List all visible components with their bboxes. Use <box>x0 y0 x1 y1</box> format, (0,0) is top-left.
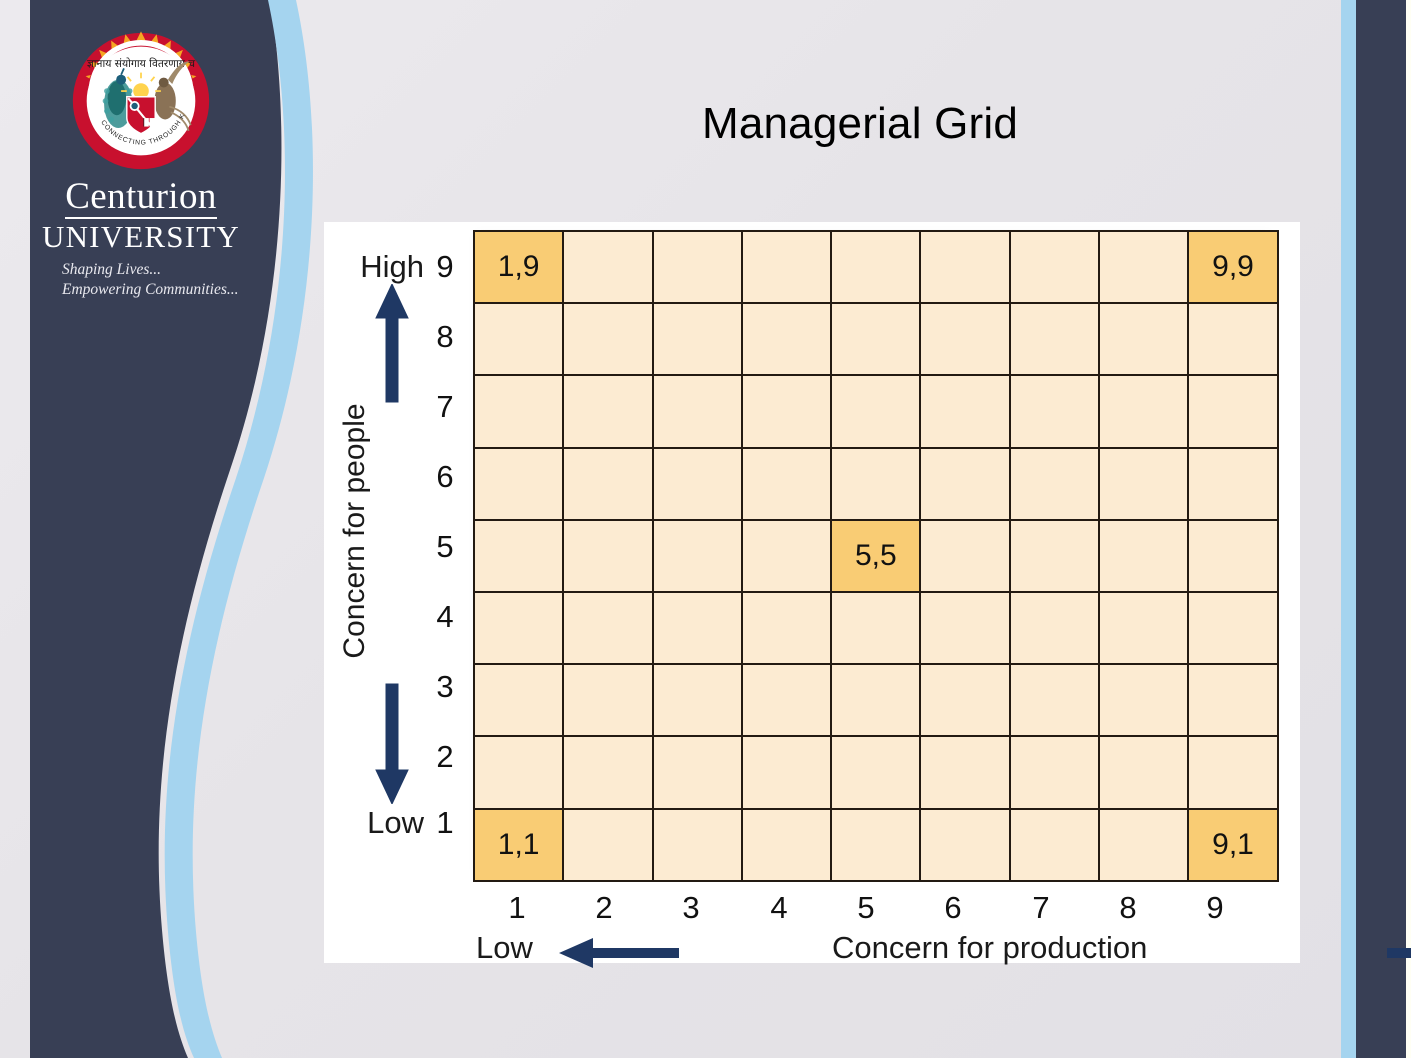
y-axis-high-label: High <box>328 249 424 285</box>
y-tick-9: 9 <box>428 249 462 285</box>
y-tick-7: 7 <box>428 389 462 425</box>
y-axis: High Low Concern for people 9 8 7 6 5 4 … <box>324 222 474 963</box>
right-navy-accent-band <box>1356 0 1406 1058</box>
x-tick-1: 1 <box>487 890 547 926</box>
y-axis-title: Concern for people <box>338 366 372 696</box>
sidebar-shape <box>0 0 340 1058</box>
right-cream-edge <box>1406 0 1411 1058</box>
branding-sidebar: ज्ञानाय संयोगाय वितरणाय च <box>0 0 340 1058</box>
x-tick-9: 9 <box>1185 890 1245 926</box>
x-axis-right-arrow <box>1387 938 1411 968</box>
x-axis-title: Concern for production <box>832 930 1147 966</box>
chart-panel: High Low Concern for people 9 8 7 6 5 4 … <box>324 222 1300 963</box>
arrow-up-icon <box>376 284 408 402</box>
x-tick-3: 3 <box>661 890 721 926</box>
y-tick-5: 5 <box>428 529 462 565</box>
x-tick-5: 5 <box>836 890 896 926</box>
slide-canvas: ज्ञानाय संयोगाय वितरणाय च <box>0 0 1411 1058</box>
arrow-down-icon <box>376 684 408 804</box>
y-tick-4: 4 <box>428 599 462 635</box>
right-blue-accent-band <box>1341 0 1356 1058</box>
page-title: Managerial Grid <box>420 99 1300 149</box>
x-axis-left-arrow <box>559 938 679 968</box>
y-axis-low-label: Low <box>328 805 424 841</box>
y-axis-double-arrow <box>370 284 414 804</box>
x-tick-2: 2 <box>574 890 634 926</box>
y-tick-8: 8 <box>428 319 462 355</box>
x-tick-6: 6 <box>923 890 983 926</box>
y-tick-6: 6 <box>428 459 462 495</box>
x-axis-low-label: Low <box>476 930 533 966</box>
arrow-left-icon <box>559 938 679 968</box>
y-tick-3: 3 <box>428 669 462 705</box>
x-tick-8: 8 <box>1098 890 1158 926</box>
x-tick-7: 7 <box>1011 890 1071 926</box>
x-axis: 1 2 3 4 5 6 7 8 9 <box>473 222 1273 963</box>
y-tick-1: 1 <box>428 805 462 841</box>
y-tick-2: 2 <box>428 739 462 775</box>
x-tick-4: 4 <box>749 890 809 926</box>
arrow-right-icon <box>1387 938 1411 968</box>
